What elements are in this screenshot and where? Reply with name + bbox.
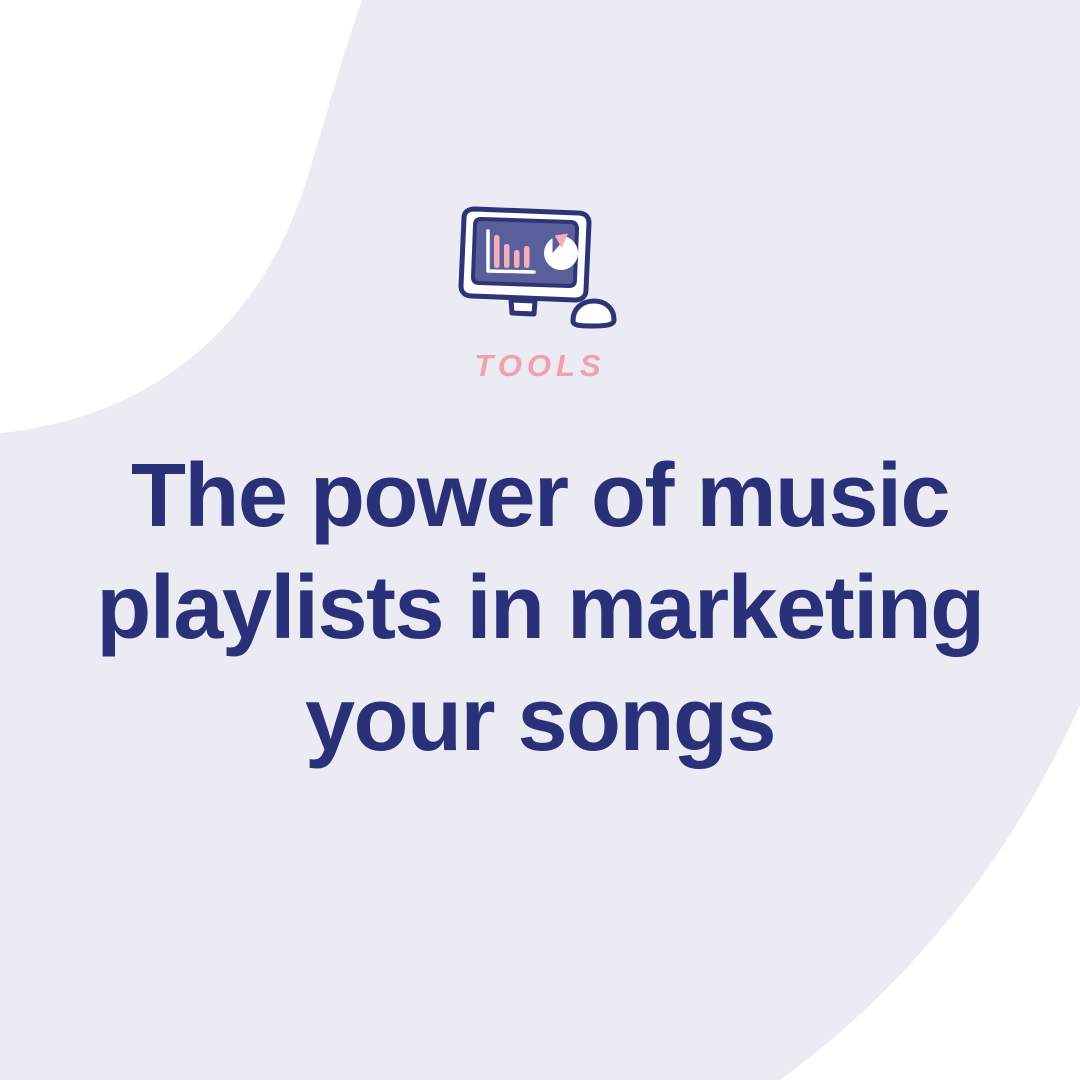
headline-line-3: your songs <box>35 664 1045 776</box>
bar-2 <box>504 244 510 268</box>
bar-3 <box>514 250 520 268</box>
tools-label: TOOLS <box>474 350 605 381</box>
bar-1 <box>494 235 500 268</box>
headline-line-1: The power of music <box>35 440 1045 552</box>
monitor-icon <box>456 206 624 336</box>
tools-icon-block: TOOLS <box>390 206 690 381</box>
page-title: The power of music playlists in marketin… <box>35 440 1045 776</box>
monitor-stand <box>511 300 535 314</box>
poster-canvas: TOOLS The power of music playlists in ma… <box>0 0 1080 1080</box>
bar-4 <box>524 246 530 268</box>
headline-line-2: playlists in marketing <box>35 552 1045 664</box>
poster-content: TOOLS The power of music playlists in ma… <box>0 0 1080 1080</box>
computer-mouse-icon <box>573 301 614 326</box>
